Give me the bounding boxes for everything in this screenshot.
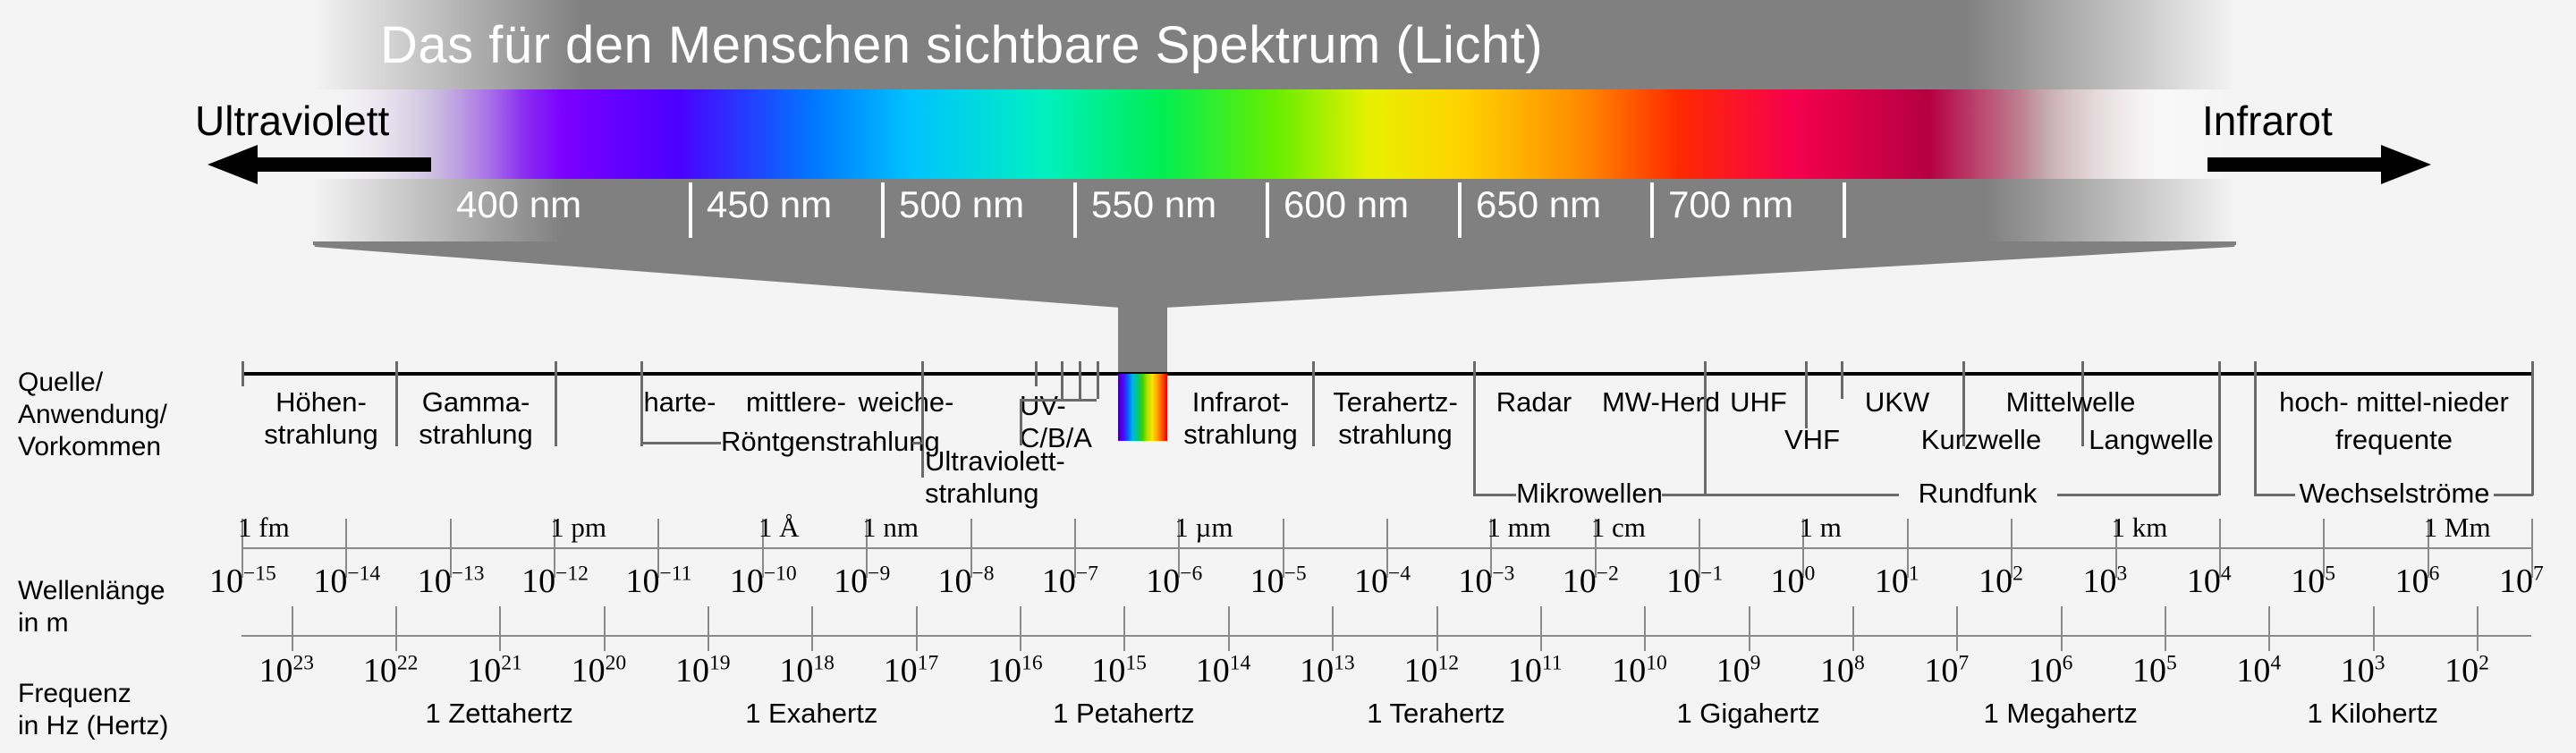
visible-light-strip [1118,374,1167,441]
nm-scale-background [313,179,2236,241]
frequency-unit-name: 1 Gigahertz [1650,698,1847,730]
band-label-mittlere: mittlere- [733,386,859,419]
frequency-tick [1436,606,1438,651]
nm-tick [1843,182,1846,238]
band-label-weiche: weiche- [848,386,964,419]
band-divider [1805,361,1808,428]
band-label-vhf: VHF [1769,424,1855,456]
frequency-exponent: 1014 [1196,651,1251,690]
wavelength-exponent: 10−15 [209,562,276,601]
frequency-unit-name: 1 Exahertz [713,698,910,730]
frequency-exponent: 1023 [259,651,315,690]
band-label-kurzwelle: Kurzwelle [1896,424,2066,456]
frequency-exponent: 105 [2132,651,2177,690]
frequency-exponent: 1021 [467,651,522,690]
main-axis-line [241,372,2531,376]
wavelength-exponent: 10−11 [625,562,691,601]
frequency-exponent: 103 [2341,651,2385,690]
frequency-tick [2061,606,2063,651]
frequency-tick [1332,606,1334,651]
nm-tick [1073,182,1077,238]
frequency-exponent: 1018 [779,651,835,690]
wavelength-exponent: 10−13 [418,562,485,601]
frequency-tick [1956,606,1958,651]
nm-tick [881,182,885,238]
frequency-tick [292,606,293,651]
wavelength-exponent: 10−14 [313,562,380,601]
wavelength-exponent: 102 [1979,562,2023,601]
infrarot-arrow-icon [2207,143,2431,186]
wavelength-exponent: 106 [2395,562,2440,601]
row-label-source: Quelle/Anwendung/Vorkommen [18,367,167,463]
band-label-infrarotstrahlung: Infrarot-strahlung [1174,386,1308,451]
nm-label: 500 nm [899,183,1024,226]
wavelength-unit-label: 1 fm [238,512,290,544]
frequency-exponent: 1020 [572,651,627,690]
infrarot-label: Infrarot [2202,97,2333,145]
frequency-tick [916,606,918,651]
frequency-exponent: 1022 [363,651,419,690]
frequency-unit-name: 1 Terahertz [1338,698,1535,730]
wavelength-exponent: 10−8 [938,562,995,601]
frequency-exponent: 1019 [675,651,731,690]
wavelength-exponent: 10−2 [1563,562,1619,601]
frequency-tick [1228,606,1230,651]
frequency-unit-name: 1 Megahertz [1962,698,2159,730]
wavelength-exponent: 101 [1875,562,1919,601]
nm-tick [1650,182,1654,238]
frequency-tick [2165,606,2166,651]
band-label-frequente: frequente [2258,424,2530,456]
band-divider [241,361,244,386]
nm-label: 450 nm [707,183,832,226]
frequency-tick [395,606,397,651]
frequency-tick [2477,606,2479,651]
wavelength-exponent: 105 [2291,562,2335,601]
band-label-hoehenstrahlung: Höhen-strahlung [250,386,392,451]
frequency-exponent: 109 [1716,651,1761,690]
frequency-tick [811,606,813,651]
nm-tick [689,182,692,238]
frequency-tick [2268,606,2270,651]
frequency-scale-line [241,635,2531,637]
wavelength-unit-label: 1 µm [1174,512,1233,544]
frequency-tick [1540,606,1542,651]
band-label-radar: Radar [1485,386,1583,419]
band-label-terahertzstrahlung: Terahertz-strahlung [1324,386,1467,451]
nm-tick [1266,182,1269,238]
wavelength-unit-label: 1 Å [758,512,800,544]
wavelength-unit-label: 1 nm [862,512,919,544]
band-divider [555,361,557,446]
band-label-ukw: UKW [1841,386,1953,419]
frequency-tick [1749,606,1750,651]
frequency-tick [1852,606,1854,651]
nm-label: 550 nm [1091,183,1216,226]
nm-label: 600 nm [1284,183,1409,226]
wavelength-exponent: 104 [2187,562,2232,601]
page-title: Das für den Menschen sichtbare Spektrum … [0,0,1923,89]
visible-spectrum-gradient [313,89,2236,179]
nm-tick [1458,182,1462,238]
wavelength-unit-label: 1 km [2112,512,2168,544]
wavelength-exponent: 10−3 [1458,562,1514,601]
frequency-tick [499,606,501,651]
wavelength-exponent: 10−12 [521,562,589,601]
band-label-hoch-mittel-nieder: hoch- mittel-nieder [2258,386,2530,419]
wavelength-unit-label: 1 Mm [2424,512,2491,544]
frequency-tick [2373,606,2375,651]
frequency-exponent: 1013 [1300,651,1355,690]
wavelength-exponent: 10−5 [1250,562,1307,601]
bracket-label-rundfunk: Rundfunk [1896,478,2059,510]
wavelength-exponent: 10−7 [1042,562,1098,601]
frequency-unit-name: 1 Petahertz [1025,698,1222,730]
row-label-frequency: Frequenzin Hz (Hertz) [18,678,168,742]
wavelength-exponent: 10−6 [1146,562,1202,601]
frequency-tick [1020,606,1021,651]
visible-spectrum-panel: Das für den Menschen sichtbare Spektrum … [0,0,2576,268]
frequency-exponent: 107 [1924,651,1969,690]
em-spectrum-chart: Quelle/Anwendung/Vorkommen Wellenlängein… [0,340,2576,753]
wavelength-exponent: 10−1 [1666,562,1723,601]
wavelength-exponent: 10−4 [1354,562,1411,601]
nm-label: 650 nm [1476,183,1601,226]
frequency-exponent: 1017 [884,651,939,690]
bracket-label-ultraviolettstrahlung: Ultraviolett-strahlung [925,445,1113,510]
wavelength-exponent: 100 [1770,562,1815,601]
frequency-tick [1123,606,1125,651]
wavelength-exponent: 107 [2499,562,2544,601]
bracket-label-roentgenstrahlung: Röntgenstrahlung [721,426,914,458]
band-divider [1035,361,1038,386]
wavelength-unit-label: 1 pm [550,512,606,544]
band-label-mw-herd: MW-Herd [1594,386,1728,419]
frequency-exponent: 1016 [987,651,1043,690]
band-label-gammastrahlung: Gamma-strahlung [404,386,547,451]
nm-label: 400 nm [456,183,581,226]
frequency-unit-name: 1 Zettahertz [401,698,597,730]
band-label-langwelle: Langwelle [2066,424,2236,456]
wavelength-unit-label: 1 m [1799,512,1841,544]
frequency-exponent: 1015 [1091,651,1147,690]
frequency-unit-name: 1 Kilohertz [2275,698,2471,730]
wavelength-exponent: 103 [2083,562,2128,601]
frequency-exponent: 1010 [1612,651,1667,690]
frequency-exponent: 102 [2445,651,2489,690]
wavelength-unit-label: 1 mm [1487,512,1550,544]
band-divider [395,361,398,446]
frequency-exponent: 1011 [1508,651,1563,690]
band-divider [1312,361,1315,446]
wavelength-unit-label: 1 cm [1591,512,1646,544]
frequency-tick [604,606,606,651]
frequency-tick [708,606,709,651]
wavelength-exponent: 10−9 [834,562,890,601]
frequency-tick [1644,606,1646,651]
nm-label: 700 nm [1668,183,1793,226]
frequency-exponent: 108 [1820,651,1865,690]
ultraviolett-arrow-icon [208,143,431,186]
bracket-label-wechselstroeme: Wechselströme [2293,478,2495,510]
bracket-label-mikrowellen: Mikrowellen [1515,478,1664,510]
wavelength-exponent: 10−10 [730,562,797,601]
row-label-wavelength: Wellenlängein m [18,575,165,639]
band-label-mittelwelle: Mittelwelle [1968,386,2173,419]
frequency-exponent: 106 [2029,651,2073,690]
ultraviolett-label: Ultraviolett [195,97,389,145]
frequency-exponent: 1012 [1404,651,1460,690]
frequency-exponent: 104 [2236,651,2281,690]
band-label-uhf: UHF [1716,386,1801,419]
